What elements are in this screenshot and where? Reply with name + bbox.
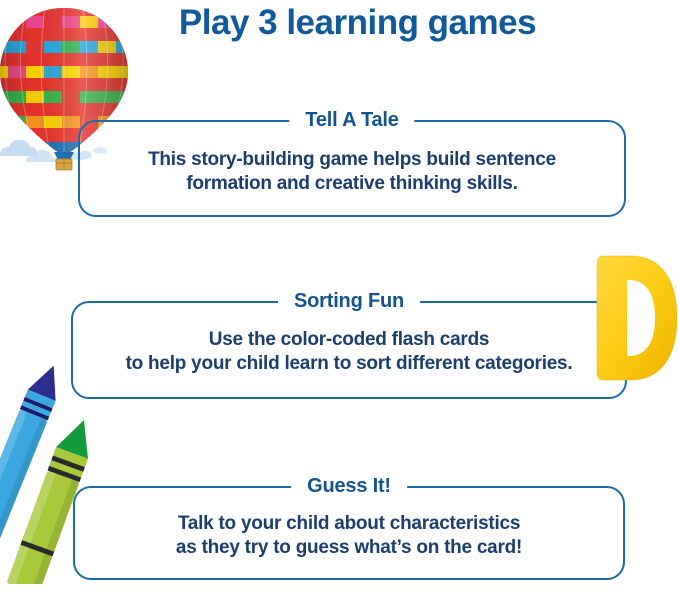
game-card-body: Talk to your child about characteristics… [83, 512, 615, 560]
game-card-label: Guess It! [291, 473, 407, 499]
page-title: Play 3 learning games [0, 2, 679, 44]
game-card-sorting-fun: Sorting Fun Use the color-coded flash ca… [71, 301, 627, 399]
game-card-guess-it: Guess It! Talk to your child about chara… [73, 486, 625, 580]
game-card-body: This story-building game helps build sen… [88, 147, 616, 195]
game-card-tell-a-tale: Tell A Tale This story-building game hel… [78, 120, 626, 217]
game-card-label: Tell A Tale [289, 107, 414, 133]
game-card-label: Sorting Fun [278, 288, 420, 314]
game-card-body: Use the color-coded flash cards to help … [81, 328, 617, 376]
